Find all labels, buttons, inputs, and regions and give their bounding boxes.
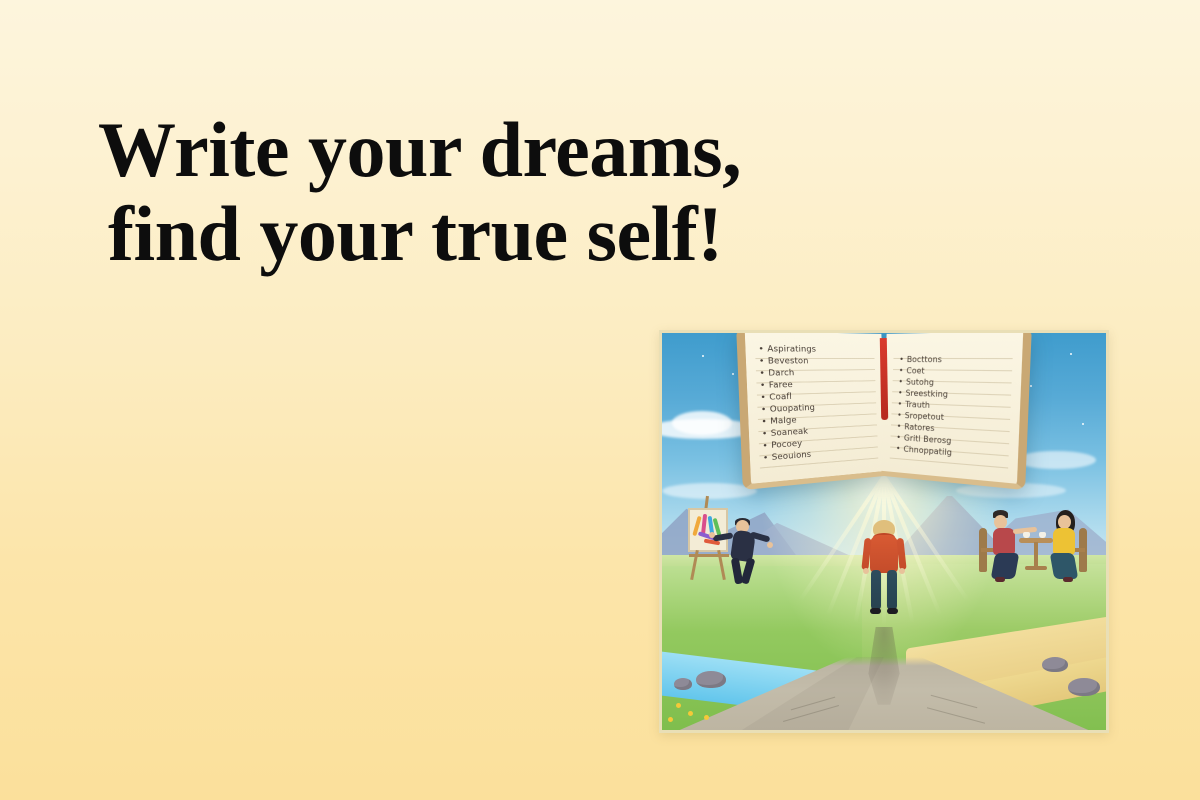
bookmark-ribbon <box>880 338 888 420</box>
boy-hoodie <box>870 535 898 573</box>
man-shoe <box>995 577 1005 582</box>
flower-icon <box>704 715 709 720</box>
sparkle-icon <box>1082 423 1084 425</box>
rock-icon <box>1068 678 1100 696</box>
cloud-icon <box>672 411 732 435</box>
sparkle-icon <box>702 355 704 357</box>
book-list-item: Bocttons <box>899 354 1015 366</box>
rock-icon <box>674 678 692 690</box>
boy-shoe <box>887 608 898 614</box>
headline-line-2: find your true self! <box>92 192 732 276</box>
flower-icon <box>688 711 693 716</box>
boy-hand <box>899 568 905 574</box>
cup-icon <box>1023 532 1030 538</box>
painter-figure <box>729 520 759 582</box>
woman-legs <box>1049 553 1078 579</box>
boy-hand <box>863 568 869 574</box>
boy-leg <box>871 570 881 610</box>
right-page-list: BocttonsCoetSutohgSreestkingTrauthSropet… <box>896 354 1015 464</box>
boy-figure <box>861 520 907 624</box>
flower-icon <box>668 717 673 722</box>
sparkle-icon <box>1070 353 1072 355</box>
man-head <box>994 515 1007 529</box>
book-list-item: Beveston <box>759 355 877 367</box>
woman-head <box>1058 515 1071 529</box>
illustration-image: AspiratingsBevestonDarchFareeCoaflOuopat… <box>659 330 1109 733</box>
cafe-table-foot <box>1025 566 1047 570</box>
cloud-icon <box>1016 451 1096 469</box>
rock-icon <box>1042 657 1068 672</box>
canvas-board <box>688 508 728 552</box>
cafe-table-stem <box>1034 542 1038 568</box>
illustration-scene: AspiratingsBevestonDarchFareeCoaflOuopat… <box>662 333 1106 730</box>
book-list-item: Aspiratings <box>758 343 876 355</box>
rock-icon <box>696 671 726 688</box>
left-page-list: AspiratingsBevestonDarchFareeCoaflOuopat… <box>758 343 880 464</box>
book-page-right: BocttonsCoetSutohgSreestkingTrauthSropet… <box>881 333 1031 490</box>
woman-shoe <box>1063 577 1073 582</box>
sparkle-icon <box>732 373 734 375</box>
painter-hand <box>767 542 773 548</box>
book-page-left: AspiratingsBevestonDarchFareeCoaflOuopat… <box>736 333 886 490</box>
man-legs <box>990 553 1019 579</box>
woman-torso <box>1053 528 1075 555</box>
boy-shoe <box>870 608 881 614</box>
boy-leg <box>887 570 897 610</box>
flower-icon <box>676 703 681 708</box>
sparkle-icon <box>1030 385 1032 387</box>
man-torso <box>993 528 1015 555</box>
page-title: Write your dreams, find your true self! <box>92 108 732 276</box>
cafe-friends <box>973 508 1093 584</box>
cup-icon <box>1039 532 1046 538</box>
headline-line-1: Write your dreams, <box>92 108 732 192</box>
open-book: AspiratingsBevestonDarchFareeCoaflOuopat… <box>750 334 1018 476</box>
painter-hand <box>709 532 715 538</box>
